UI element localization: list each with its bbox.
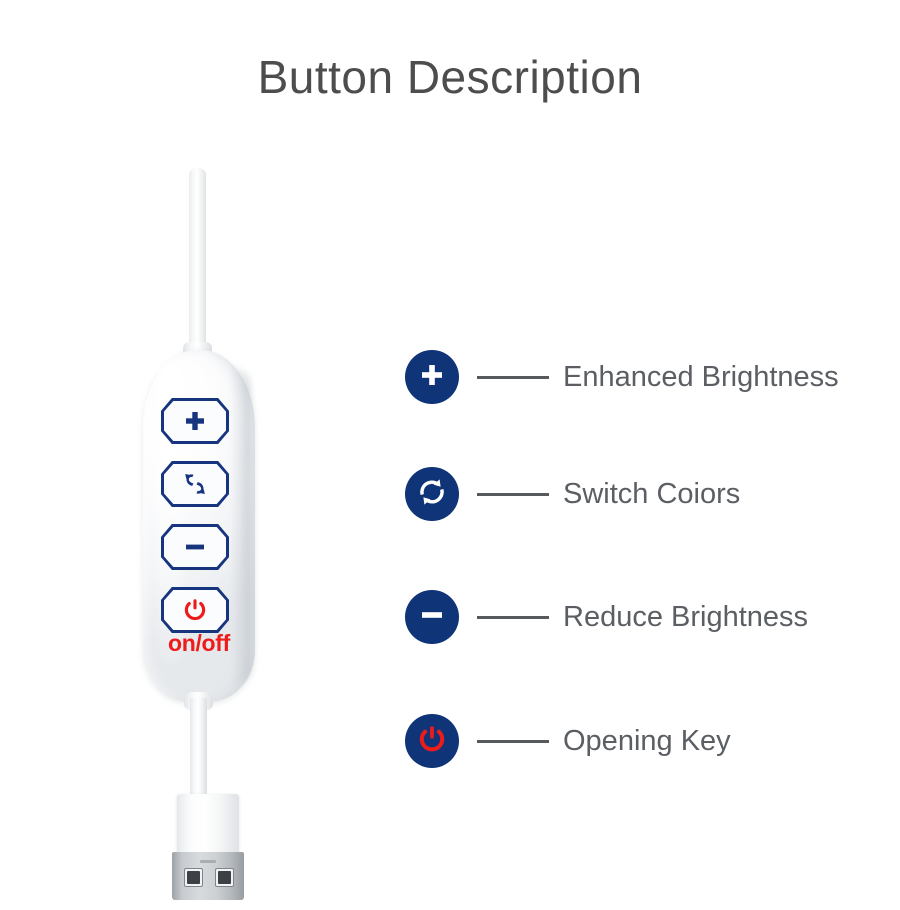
cycle-arrows-icon xyxy=(161,461,229,507)
legend-item-enhanced-brightness: Enhanced Brightness xyxy=(405,346,900,408)
cable-upper xyxy=(189,168,206,358)
legend-connector-line xyxy=(477,616,549,619)
legend-item-opening-key: Opening Key xyxy=(405,710,900,772)
product-illustration: on/off xyxy=(105,150,335,910)
legend-list: Enhanced Brightness Switch Coiors xyxy=(405,338,900,788)
legend-label: Switch Coiors xyxy=(563,478,740,511)
onoff-label: on/off xyxy=(143,630,255,657)
legend-label: Opening Key xyxy=(563,725,731,758)
power-icon xyxy=(415,722,449,761)
legend-connector-line xyxy=(477,740,549,743)
usb-contact-right xyxy=(215,868,234,887)
usb-plug-slot xyxy=(200,860,216,863)
plus-icon xyxy=(161,398,229,444)
legend-item-switch-colors: Switch Coiors xyxy=(405,463,900,525)
usb-plug-housing xyxy=(177,794,239,854)
legend-badge-minus xyxy=(405,590,459,644)
usb-contact-left xyxy=(184,868,203,887)
minus-icon xyxy=(161,524,229,570)
refresh-cycle-icon xyxy=(414,474,450,515)
legend-label: Enhanced Brightness xyxy=(563,361,839,394)
device-button-power[interactable] xyxy=(161,587,229,633)
legend-badge-power xyxy=(405,714,459,768)
power-icon xyxy=(161,587,229,633)
device-button-brightness-up[interactable] xyxy=(161,398,229,444)
minus-icon xyxy=(417,600,447,635)
legend-badge-plus xyxy=(405,350,459,404)
legend-label: Reduce Brightness xyxy=(563,601,808,634)
legend-badge-refresh xyxy=(405,467,459,521)
page-title: Button Description xyxy=(0,52,900,103)
device-button-switch-colors[interactable] xyxy=(161,461,229,507)
cable-lower xyxy=(190,698,207,798)
legend-connector-line xyxy=(477,493,549,496)
legend-connector-line xyxy=(477,376,549,379)
plus-icon xyxy=(417,360,447,395)
legend-item-reduce-brightness: Reduce Brightness xyxy=(405,586,900,648)
device-button-brightness-down[interactable] xyxy=(161,524,229,570)
